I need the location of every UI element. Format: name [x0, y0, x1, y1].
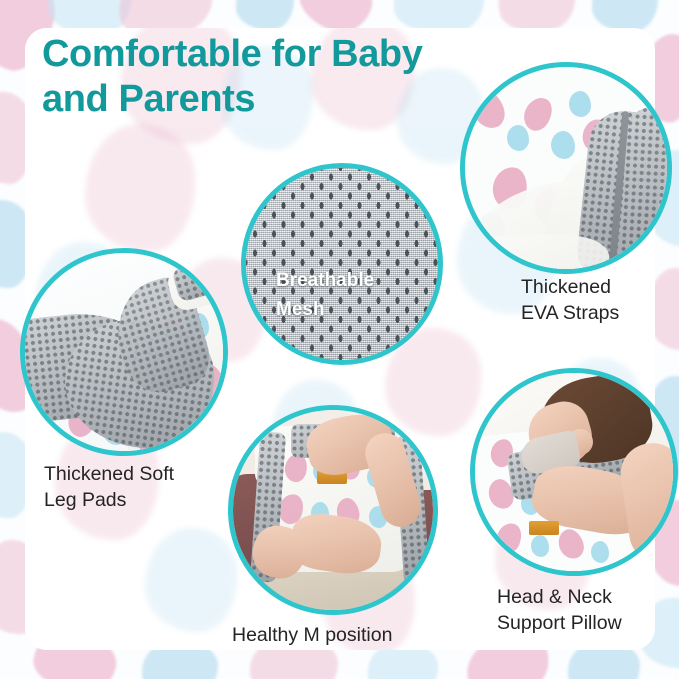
callout-head-neck-pillow[interactable] — [470, 368, 678, 576]
caption-m-position: Healthy M position — [232, 623, 452, 649]
breathable-mesh-photo — [246, 168, 438, 360]
callout-leg-pads[interactable] — [20, 248, 228, 456]
page-title: Comfortable for Baby and Parents — [42, 32, 522, 122]
caption-eva-straps: Thickened EVA Straps — [521, 275, 679, 326]
head-neck-pillow-photo — [475, 373, 673, 571]
breathable-mesh-label: Breathable Mesh — [276, 266, 374, 325]
callout-breathable-mesh[interactable]: Breathable Mesh — [241, 163, 443, 365]
caption-leg-pads: Thickened Soft Leg Pads — [44, 462, 234, 513]
callout-m-position[interactable] — [228, 405, 438, 615]
eva-straps-photo — [465, 67, 667, 269]
leg-pads-photo — [25, 253, 223, 451]
caption-head-neck-pillow: Head & Neck Support Pillow — [497, 585, 677, 636]
callout-eva-straps[interactable] — [460, 62, 672, 274]
m-position-photo — [233, 410, 433, 610]
infographic-root: Comfortable for Baby and Parents Thicken… — [0, 0, 679, 679]
brand-tag-2 — [529, 521, 559, 535]
